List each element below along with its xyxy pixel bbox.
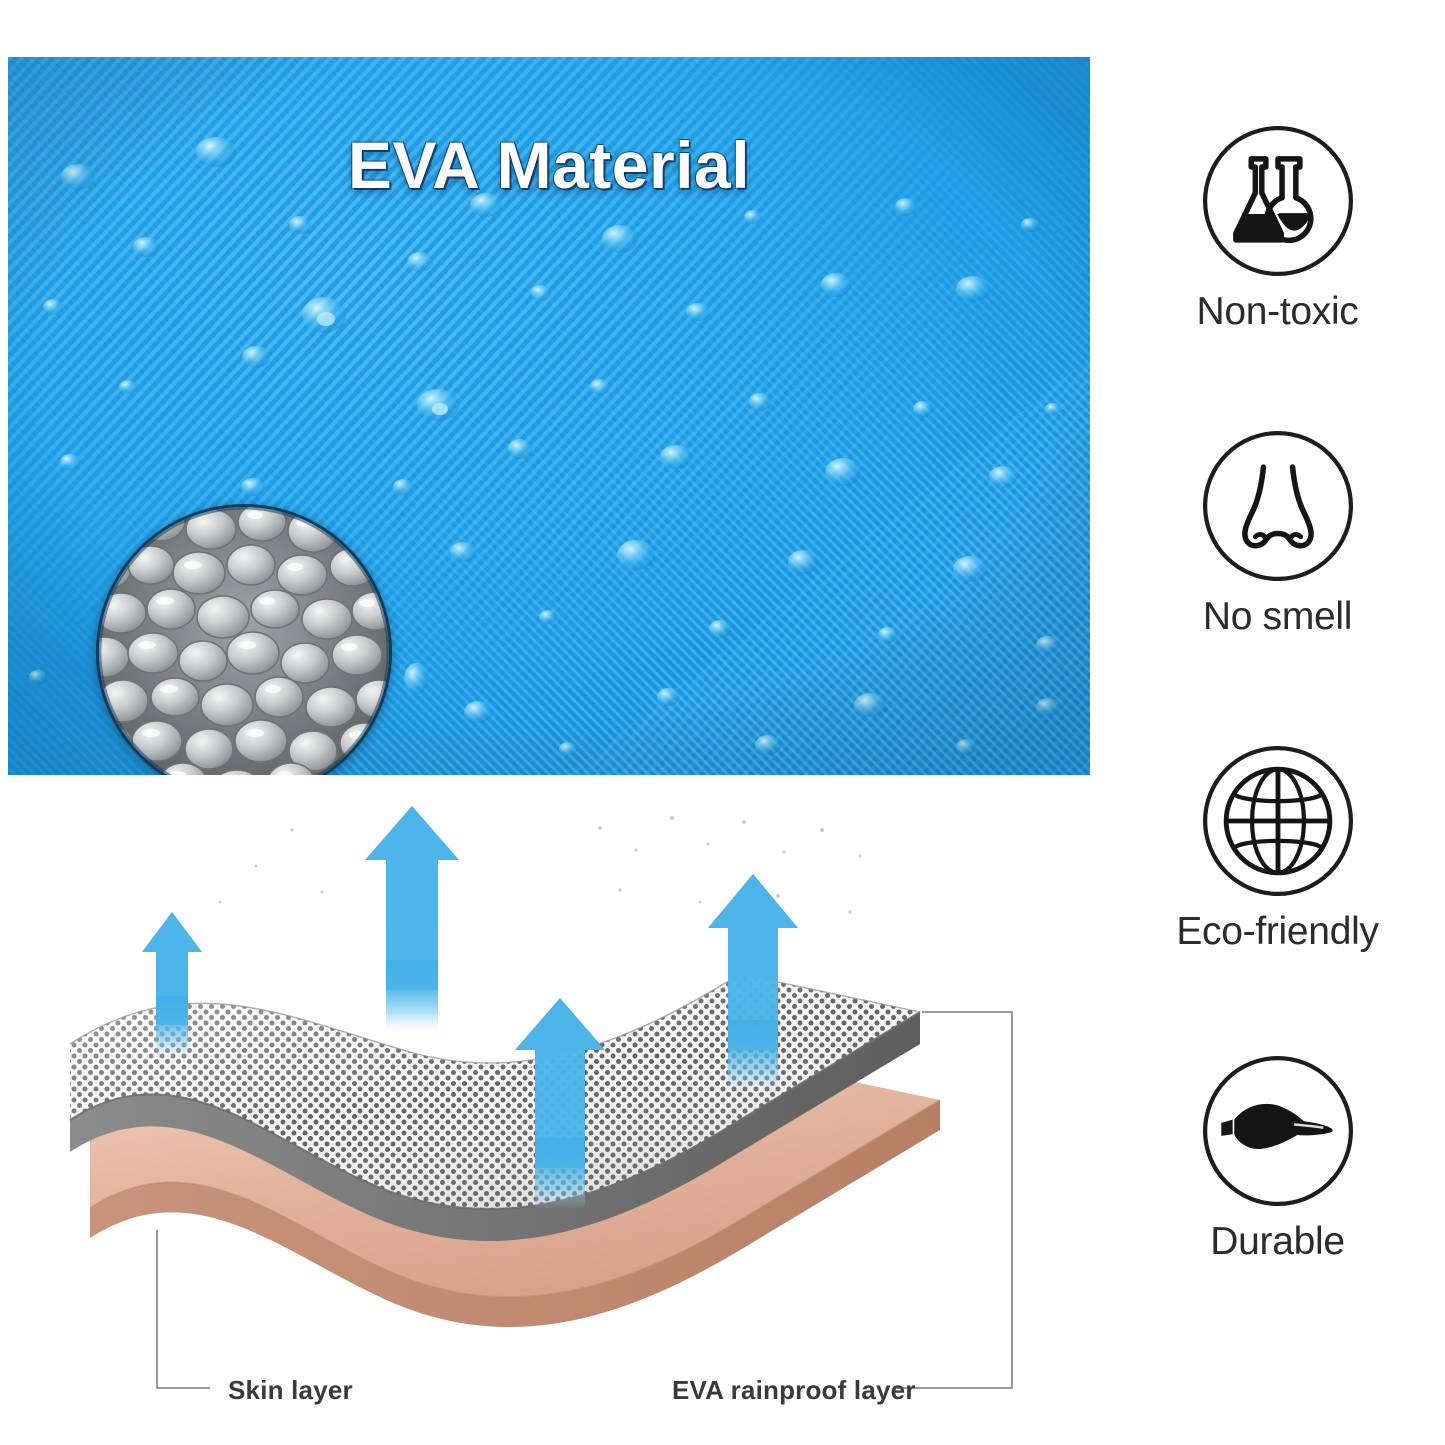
flask-icon bbox=[1197, 120, 1359, 282]
left-column: EVA Material bbox=[0, 0, 1110, 1445]
feature-non-toxic[interactable]: Non-toxic bbox=[1110, 120, 1445, 333]
eva-pellets-image bbox=[99, 507, 389, 775]
feature-badge-column: Non-toxic No smell bbox=[1110, 0, 1445, 1445]
feature-eco-friendly[interactable]: Eco-friendly bbox=[1110, 740, 1445, 953]
feature-no-smell[interactable]: No smell bbox=[1110, 425, 1445, 638]
feature-durable[interactable]: Durable bbox=[1110, 1050, 1445, 1263]
skin-layer-label: Skin layer bbox=[228, 1375, 353, 1406]
hand-icon bbox=[1197, 1050, 1359, 1212]
globe-icon bbox=[1197, 740, 1359, 902]
infographic-canvas: EVA Material bbox=[0, 0, 1445, 1445]
feature-label: Durable bbox=[1110, 1222, 1445, 1263]
feature-label: No smell bbox=[1110, 597, 1445, 638]
eva-rainproof-layer-label: EVA rainproof layer bbox=[672, 1375, 916, 1406]
eva-material-photo-panel: EVA Material bbox=[8, 57, 1090, 775]
feature-label: Non-toxic bbox=[1110, 292, 1445, 333]
nose-icon bbox=[1197, 425, 1359, 587]
feature-label: Eco-friendly bbox=[1110, 912, 1445, 953]
fabric-layer-diagram bbox=[60, 800, 1060, 1400]
